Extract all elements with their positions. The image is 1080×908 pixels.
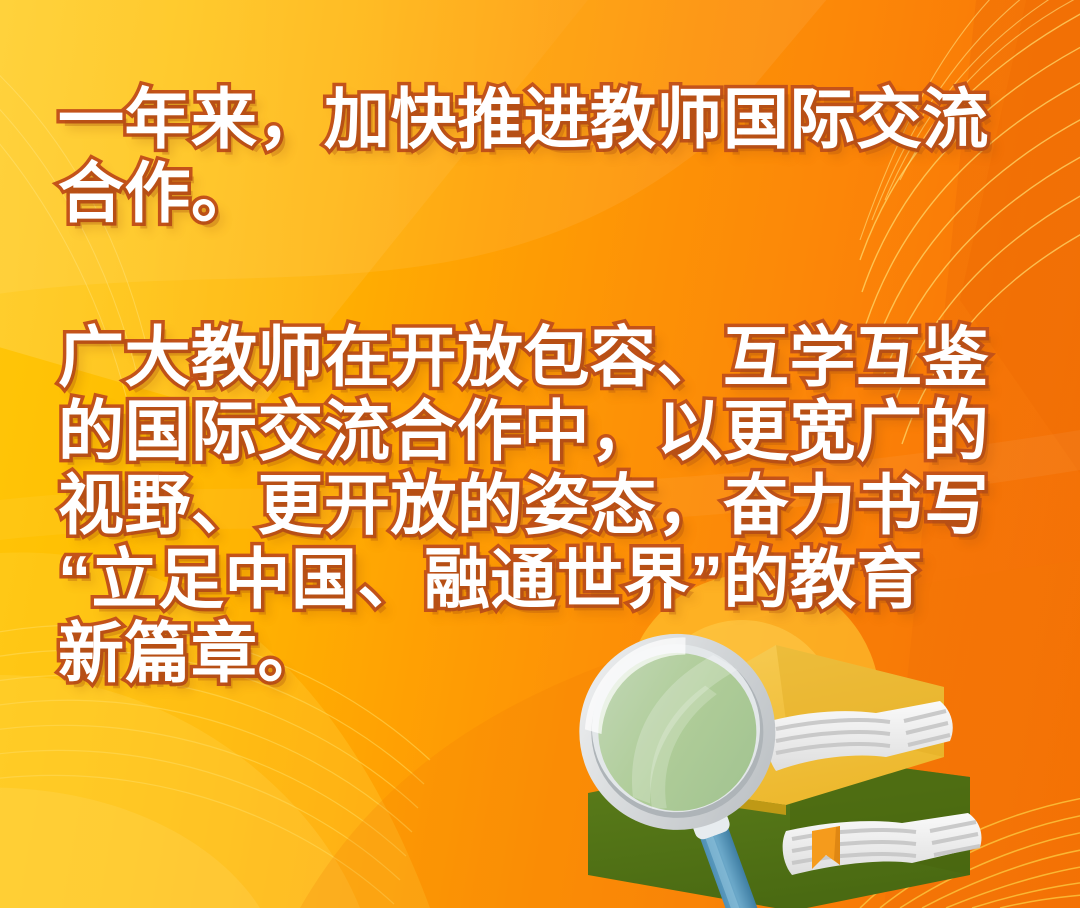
magnifier-handle: [695, 813, 768, 908]
bg-swoosh-lower-left-3: [0, 788, 260, 908]
body-paragraph: 广大教师在开放包容、互学互鉴 的国际交流合作中，以更宽广的 视野、更开放的姿态，…: [58, 320, 1026, 690]
headline-paragraph: 一年来，加快推进教师国际交流 合作。: [58, 82, 1026, 230]
bottom-book-pages: [783, 813, 982, 875]
bottom-book: [588, 753, 982, 908]
poster-canvas: 一年来，加快推进教师国际交流 合作。 广大教师在开放包容、互学互鉴 的国际交流合…: [0, 0, 1080, 908]
bg-thin-lines-bottom-right: [860, 790, 1080, 908]
bg-swoosh-lower-left-2: [0, 675, 360, 908]
bottom-book-page-lines: [792, 822, 980, 863]
top-book-page-lines: [776, 711, 950, 753]
bottom-book-spine-shade: [790, 753, 970, 875]
bookmark-ribbon: [812, 826, 840, 869]
bookmark-ribbon-shade: [834, 826, 840, 865]
magnifier-neck: [682, 786, 732, 842]
bottom-book-cover: [588, 753, 970, 908]
top-book-bottom-edge: [620, 781, 786, 815]
magnifier-lens-highlight-2: [619, 683, 748, 813]
top-book-pages: [767, 701, 953, 771]
poster-text-block: 一年来，加快推进教师国际交流 合作。 广大教师在开放包容、互学互鉴 的国际交流合…: [58, 82, 1026, 690]
